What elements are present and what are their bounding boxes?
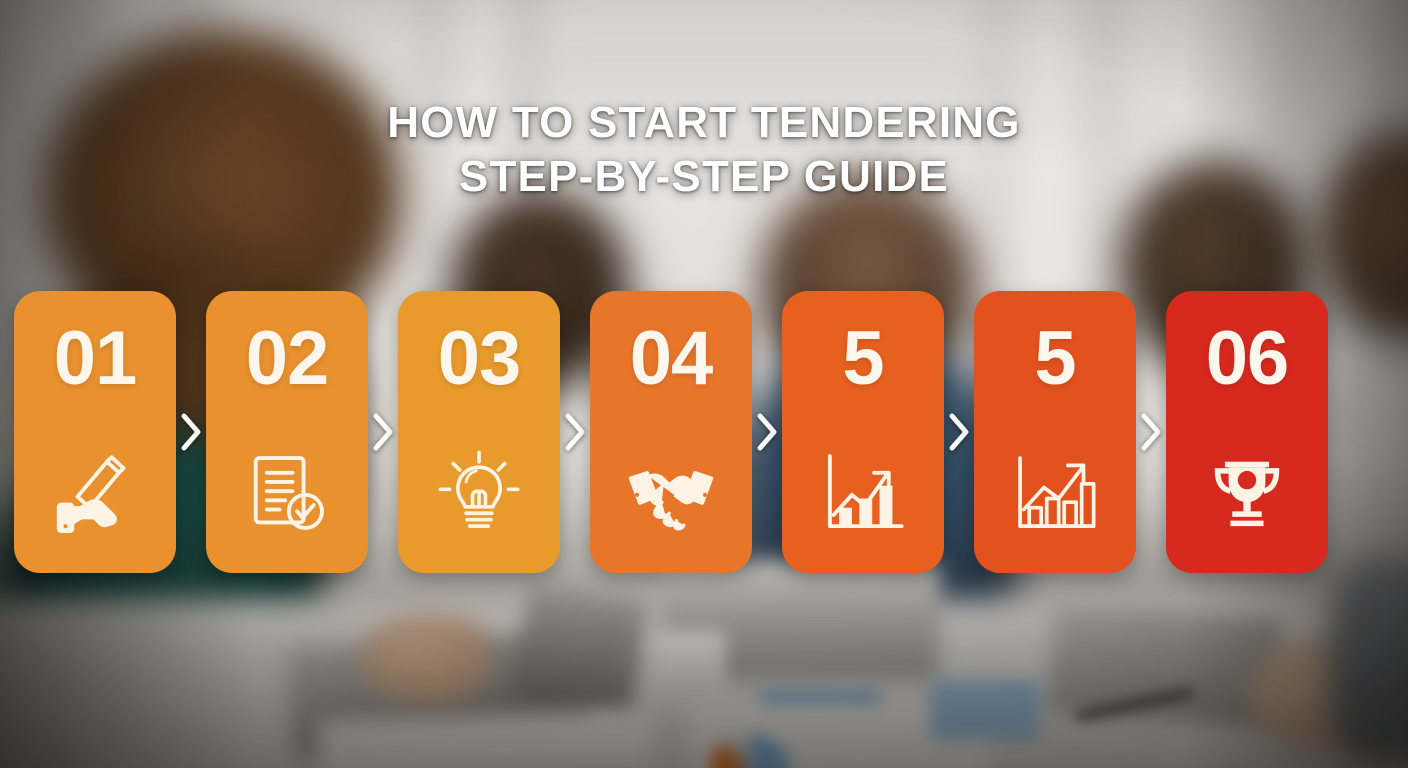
step-number: 5 [842, 321, 883, 397]
lightbulb-icon [433, 447, 525, 539]
step-number: 01 [54, 321, 137, 397]
infographic-canvas: HOW TO START TENDERING STEP-BY-STEP GUID… [0, 0, 1408, 768]
step-card-5[interactable]: 5 [782, 291, 944, 573]
chevron-right-icon [368, 409, 398, 455]
chevron-right-icon [752, 409, 782, 455]
step-number: 02 [246, 321, 329, 397]
title-line-1: HOW TO START TENDERING [387, 98, 1020, 147]
step-card-4[interactable]: 04 [590, 291, 752, 573]
chevron-right-icon [560, 409, 590, 455]
step-card-7[interactable]: 06 [1166, 291, 1328, 573]
step-number: 5 [1034, 321, 1075, 397]
growth-bar-chart-outline-icon [1009, 447, 1101, 539]
document-check-icon [241, 447, 333, 539]
step-card-3[interactable]: 03 [398, 291, 560, 573]
step-card-1[interactable]: 01 [14, 291, 176, 573]
hand-writing-pen-icon [49, 447, 141, 539]
title-line-2: STEP-BY-STEP GUIDE [0, 150, 1408, 204]
step-card-6[interactable]: 5 [974, 291, 1136, 573]
chevron-right-icon [944, 409, 974, 455]
step-number: 04 [630, 321, 713, 397]
trophy-icon [1201, 447, 1293, 539]
chevron-right-icon [176, 409, 206, 455]
step-number: 06 [1206, 321, 1289, 397]
growth-bar-chart-icon [817, 447, 909, 539]
page-title: HOW TO START TENDERING STEP-BY-STEP GUID… [0, 96, 1408, 203]
handshake-icon [625, 447, 717, 539]
step-number: 03 [438, 321, 521, 397]
steps-row: 01 02 03 [0, 291, 1408, 573]
chevron-right-icon [1136, 409, 1166, 455]
step-card-2[interactable]: 02 [206, 291, 368, 573]
